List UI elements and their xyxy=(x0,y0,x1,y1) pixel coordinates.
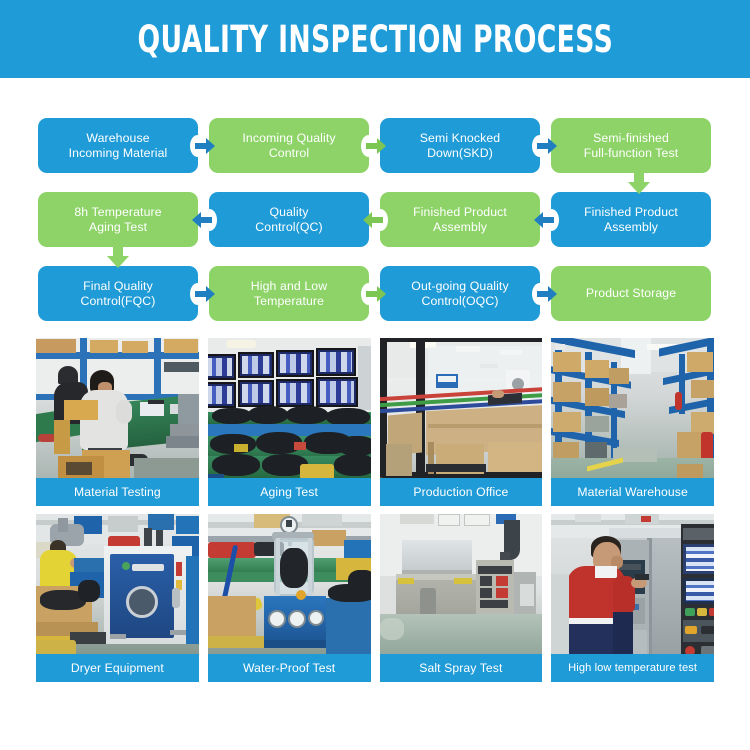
flow-row-3: Final Quality Control(FQC) High and Low … xyxy=(38,266,712,321)
flow-step-label-line1: Finished Product xyxy=(413,205,507,219)
flow-step-label-line1: Semi Knocked xyxy=(420,131,501,145)
flow-step-product-storage[interactable]: Product Storage xyxy=(551,266,711,321)
flow-step-label-line2: Aging Test xyxy=(89,220,147,234)
flow-step-8h-temperature-aging-test[interactable]: 8h Temperature Aging Test xyxy=(38,192,198,247)
flow-step-label-line2: Control(QC) xyxy=(255,220,322,234)
gallery-row-1: Material Testing xyxy=(36,338,714,506)
flow-row-1: Warehouse Incoming Material Incoming Qua… xyxy=(38,118,712,173)
page-title: QUALITY INSPECTION PROCESS xyxy=(137,18,613,61)
gallery-caption: Material Warehouse xyxy=(551,478,714,506)
flow-step-label: Semi Knocked Down(SKD) xyxy=(420,131,501,160)
flow-step-label-line2: Full-function Test xyxy=(584,146,679,160)
gallery-tile-dryer-equipment[interactable]: Dryer Equipment xyxy=(36,514,199,682)
flow-step-label-line1: Final Quality xyxy=(83,279,153,293)
flow-step-label: Finished Product Assembly xyxy=(584,205,678,234)
gallery-caption: Aging Test xyxy=(208,478,371,506)
gallery-caption: Production Office xyxy=(380,478,543,506)
arrow-right-icon xyxy=(365,135,387,157)
flow-step-label: Incoming Quality Control xyxy=(242,131,335,160)
flow-step-high-and-low-temperature[interactable]: High and Low Temperature xyxy=(209,266,369,321)
flow-step-semi-finished-full-function-test[interactable]: Semi-finished Full-function Test xyxy=(551,118,711,173)
flow-step-label-line2: Control(FQC) xyxy=(81,294,156,308)
arrow-right-icon xyxy=(194,283,216,305)
flow-step-label-line1: High and Low xyxy=(251,279,327,293)
flow-step-label: Final Quality Control(FQC) xyxy=(81,279,156,308)
flow-step-quality-control-qc[interactable]: Quality Control(QC) xyxy=(209,192,369,247)
flow-step-label-line1: Warehouse xyxy=(86,131,149,145)
gallery-caption: High low temperature test xyxy=(551,654,714,682)
flow-step-label: Quality Control(QC) xyxy=(255,205,322,234)
gallery-tile-high-low-temperature-test[interactable]: High low temperature test xyxy=(551,514,714,682)
flow-step-label-line1: Finished Product xyxy=(584,205,678,219)
flow-step-final-quality-control-fqc[interactable]: Final Quality Control(FQC) xyxy=(38,266,198,321)
arrow-left-icon xyxy=(533,209,555,231)
facility-photo-gallery: Material Testing xyxy=(0,338,750,682)
arrow-right-icon xyxy=(536,283,558,305)
gallery-tile-production-office[interactable]: Production Office xyxy=(380,338,543,506)
flow-step-label: Finished Product Assembly xyxy=(413,205,507,234)
flow-step-label-line1: Out-going Quality xyxy=(411,279,508,293)
page-header: QUALITY INSPECTION PROCESS xyxy=(0,0,750,78)
gallery-tile-material-warehouse[interactable]: Material Warehouse xyxy=(551,338,714,506)
flow-step-label: 8h Temperature Aging Test xyxy=(74,205,161,234)
arrow-right-icon xyxy=(365,283,387,305)
flow-step-label: Semi-finished Full-function Test xyxy=(584,131,679,160)
arrow-down-icon xyxy=(624,168,654,196)
flow-step-finished-product-assembly-a[interactable]: Finished Product Assembly xyxy=(380,192,540,247)
flow-step-incoming-quality-control[interactable]: Incoming Quality Control xyxy=(209,118,369,173)
arrow-left-icon xyxy=(362,209,384,231)
flow-step-label-line2: Down(SKD) xyxy=(427,146,493,160)
flow-step-label-line1: Product Storage xyxy=(586,286,676,300)
gallery-tile-water-proof-test[interactable]: Water-Proof Test xyxy=(208,514,371,682)
gallery-caption: Salt Spray Test xyxy=(380,654,543,682)
flow-step-semi-knocked-down[interactable]: Semi Knocked Down(SKD) xyxy=(380,118,540,173)
flow-step-label-line1: Incoming Quality xyxy=(242,131,335,145)
gallery-caption: Material Testing xyxy=(36,478,199,506)
gallery-caption: Dryer Equipment xyxy=(36,654,199,682)
flow-step-warehouse-incoming-material[interactable]: Warehouse Incoming Material xyxy=(38,118,198,173)
gallery-caption: Water-Proof Test xyxy=(208,654,371,682)
flow-step-label-line2: Temperature xyxy=(254,294,324,308)
arrow-left-icon xyxy=(191,209,213,231)
quality-inspection-flowchart: Warehouse Incoming Material Incoming Qua… xyxy=(0,78,750,338)
flow-step-out-going-quality-control-oqc[interactable]: Out-going Quality Control(OQC) xyxy=(380,266,540,321)
gallery-tile-salt-spray-test[interactable]: Salt Spray Test xyxy=(380,514,543,682)
flow-row-2: 8h Temperature Aging Test Quality Contro… xyxy=(38,192,712,247)
flow-step-finished-product-assembly-b[interactable]: Finished Product Assembly xyxy=(551,192,711,247)
flow-step-label: Warehouse Incoming Material xyxy=(69,131,168,160)
gallery-tile-aging-test[interactable]: Aging Test xyxy=(208,338,371,506)
arrow-down-icon xyxy=(103,242,133,270)
gallery-tile-material-testing[interactable]: Material Testing xyxy=(36,338,199,506)
flow-step-label-line2: Control(OQC) xyxy=(421,294,498,308)
flow-step-label: High and Low Temperature xyxy=(251,279,327,308)
flow-step-label: Out-going Quality Control(OQC) xyxy=(411,279,508,308)
flow-step-label: Product Storage xyxy=(586,286,676,301)
flow-step-label-line1: Quality xyxy=(270,205,309,219)
arrow-right-icon xyxy=(194,135,216,157)
flow-step-label-line2: Control xyxy=(269,146,309,160)
flow-step-label-line2: Incoming Material xyxy=(69,146,168,160)
flow-step-label-line2: Assembly xyxy=(433,220,487,234)
gallery-row-2: Dryer Equipment xyxy=(36,514,714,682)
flow-step-label-line1: Semi-finished xyxy=(593,131,669,145)
flow-step-label-line2: Assembly xyxy=(604,220,658,234)
flow-step-label-line1: 8h Temperature xyxy=(74,205,161,219)
arrow-right-icon xyxy=(536,135,558,157)
